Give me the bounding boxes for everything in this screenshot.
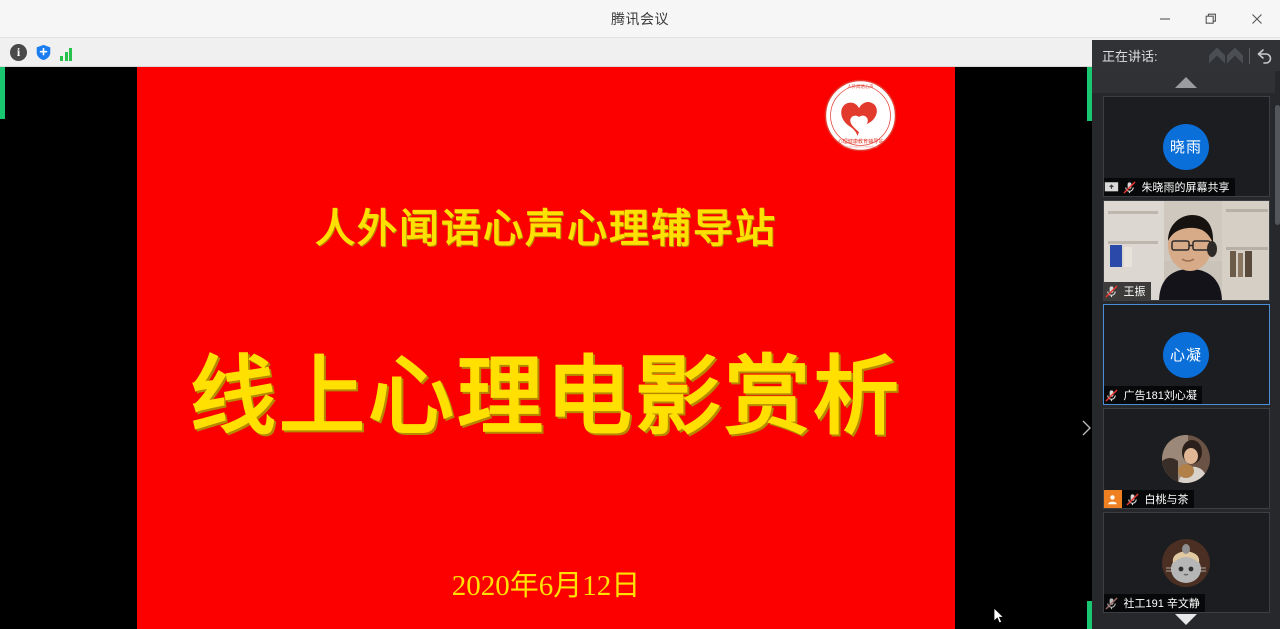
participant-label-bar: 白桃与茶 bbox=[1104, 490, 1194, 508]
app-toolbar: i 01 bbox=[0, 38, 1280, 67]
participant-name: 社工191 辛文静 bbox=[1122, 595, 1200, 611]
security-shield-icon[interactable] bbox=[34, 43, 53, 62]
mic-muted-icon bbox=[1104, 284, 1119, 299]
slide-date: 2020年6月12日 bbox=[137, 562, 955, 604]
network-signal-icon-glyph bbox=[60, 44, 77, 61]
participant-tile[interactable]: 心凝 广告181刘心凝 bbox=[1103, 304, 1270, 405]
avatar bbox=[1162, 539, 1210, 587]
slide-title: 人外闻语心声心理辅导站 bbox=[137, 196, 955, 254]
avatar bbox=[1162, 435, 1210, 483]
minimize-icon[interactable] bbox=[1142, 0, 1188, 38]
participant-tile[interactable]: 白桃与茶 bbox=[1103, 408, 1270, 509]
participants-sidebar: 正在讲话: 晓雨 bbox=[1092, 40, 1280, 629]
participant-tile[interactable]: 社工191 辛文静 bbox=[1103, 512, 1270, 613]
participants-scroll-area[interactable]: 晓雨 朱晓雨的屏幕共享 bbox=[1092, 71, 1280, 629]
participant-label-bar: 朱晓雨的屏幕共享 bbox=[1104, 178, 1235, 196]
sidebar-header-actions bbox=[1209, 47, 1274, 65]
slide-heading: 线上心理电影赏析 bbox=[137, 354, 955, 440]
avatar: 晓雨 bbox=[1163, 124, 1209, 170]
restore-icon[interactable] bbox=[1188, 0, 1234, 38]
host-person-icon bbox=[1104, 490, 1122, 508]
counseling-center-logo-icon: 心理健康教育辅导站 Psychological Counseling 人外闻语心… bbox=[824, 79, 897, 152]
participant-name: 广告181刘心凝 bbox=[1122, 387, 1197, 403]
svg-text:人外闻语心声: 人外闻语心声 bbox=[847, 83, 874, 90]
sidebar-scrollbar-track[interactable] bbox=[1275, 71, 1280, 629]
toolbar-icon-group: i bbox=[0, 43, 78, 62]
scroll-up-button[interactable] bbox=[1092, 71, 1280, 93]
participant-tile[interactable]: 王振 bbox=[1103, 200, 1270, 301]
window-titlebar: 腾讯会议 bbox=[0, 0, 1280, 38]
participant-tile[interactable]: 晓雨 朱晓雨的屏幕共享 bbox=[1103, 96, 1270, 197]
sidebar-header: 正在讲话: bbox=[1092, 40, 1280, 71]
mic-muted-icon bbox=[1125, 492, 1140, 507]
return-arrow-icon[interactable] bbox=[1256, 47, 1274, 65]
participant-label-bar: 广告181刘心凝 bbox=[1104, 386, 1202, 404]
shared-screen-stage[interactable]: 心理健康教育辅导站 Psychological Counseling 人外闻语心… bbox=[0, 67, 1092, 629]
layout-switch-icon[interactable] bbox=[1209, 48, 1243, 64]
participant-name: 王振 bbox=[1122, 283, 1146, 299]
svg-text:Psychological Counseling: Psychological Counseling bbox=[843, 145, 877, 149]
mic-muted-icon bbox=[1122, 180, 1137, 195]
info-icon-glyph: i bbox=[10, 44, 27, 61]
screen-share-border-left bbox=[0, 67, 5, 119]
triangle-down-icon bbox=[1175, 614, 1197, 625]
network-signal-icon[interactable] bbox=[59, 43, 78, 62]
security-shield-icon-glyph bbox=[35, 44, 52, 61]
sidebar-scrollbar-thumb[interactable] bbox=[1275, 105, 1280, 225]
presentation-slide: 心理健康教育辅导站 Psychological Counseling 人外闻语心… bbox=[137, 67, 955, 629]
sidebar-header-divider bbox=[1249, 48, 1250, 64]
window-controls bbox=[1142, 0, 1280, 38]
chevron-right-icon[interactable] bbox=[1078, 417, 1092, 439]
window-title: 腾讯会议 bbox=[0, 0, 1280, 38]
participant-label-bar: 王振 bbox=[1104, 282, 1151, 300]
mic-muted-icon bbox=[1104, 596, 1119, 611]
screen-share-icon bbox=[1104, 180, 1119, 195]
participant-name: 朱晓雨的屏幕共享 bbox=[1140, 179, 1230, 195]
participant-name: 白桃与茶 bbox=[1143, 491, 1189, 507]
triangle-up-icon bbox=[1175, 77, 1197, 88]
avatar: 心凝 bbox=[1163, 332, 1209, 378]
close-icon[interactable] bbox=[1234, 0, 1280, 38]
active-speaker-label: 正在讲话: bbox=[1102, 46, 1158, 65]
participant-label-bar: 社工191 辛文静 bbox=[1104, 594, 1205, 612]
mic-muted-icon bbox=[1104, 388, 1119, 403]
info-icon[interactable]: i bbox=[9, 43, 28, 62]
mouse-cursor-icon bbox=[993, 607, 1005, 625]
